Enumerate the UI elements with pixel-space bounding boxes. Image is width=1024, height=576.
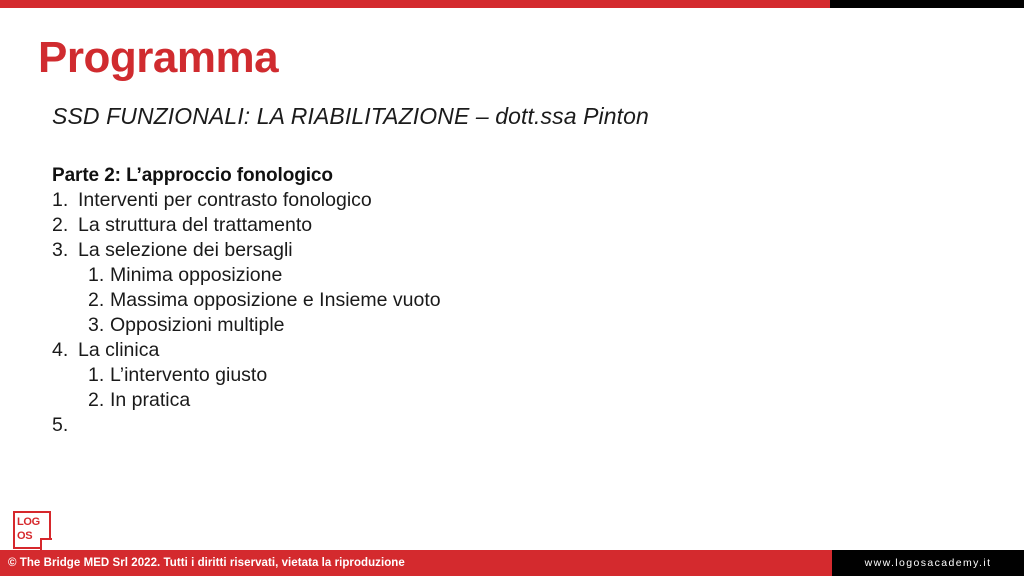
list-item-label: L’intervento giusto (110, 363, 267, 388)
logo-wordmark-line2: OS (17, 529, 44, 543)
list-item-marker: 2. (88, 288, 110, 313)
list-item-marker: 1. (88, 363, 110, 388)
outline-list: Parte 2: L’approccio fonologico 1. Inter… (52, 163, 852, 438)
top-accent-bar-red-segment (0, 0, 830, 8)
list-item: 5. (52, 413, 852, 438)
list-item: 4. La clinica (52, 338, 852, 363)
footer-bar: © The Bridge MED Srl 2022. Tutti i dirit… (0, 550, 1024, 576)
footer-website-band: www.logosacademy.it (832, 550, 1024, 576)
list-item: 3. La selezione dei bersagli (52, 238, 852, 263)
top-accent-bar-black-segment (830, 0, 1024, 8)
list-item-marker: 3. (52, 238, 78, 263)
logos-logo: LOG OS (13, 511, 51, 549)
top-accent-bar (0, 0, 1024, 8)
list-item-marker: 1. (52, 188, 78, 213)
footer-copyright-text: © The Bridge MED Srl 2022. Tutti i dirit… (0, 557, 405, 569)
list-item-marker: 3. (88, 313, 110, 338)
logo-wordmark-line1: LOG (17, 515, 44, 529)
list-item-label: Massima opposizione e Insieme vuoto (110, 288, 441, 313)
list-item-label: In pratica (110, 388, 190, 413)
list-item: 1. Interventi per contrasto fonologico (52, 188, 852, 213)
list-item: 2. La struttura del trattamento (52, 213, 852, 238)
list-item-marker: 4. (52, 338, 78, 363)
list-item-label: Minima opposizione (110, 263, 282, 288)
list-item-label: Opposizioni multiple (110, 313, 285, 338)
list-item: 1. L’intervento giusto (52, 363, 852, 388)
list-item: 1. Minima opposizione (52, 263, 852, 288)
outline-heading: Parte 2: L’approccio fonologico (52, 163, 852, 188)
list-item-marker: 1. (88, 263, 110, 288)
page-title: Programma (38, 36, 278, 80)
list-item-label: Interventi per contrasto fonologico (78, 188, 372, 213)
list-item: 2. Massima opposizione e Insieme vuoto (52, 288, 852, 313)
list-item: 2. In pratica (52, 388, 852, 413)
slide-canvas: Programma SSD FUNZIONALI: LA RIABILITAZI… (0, 8, 1024, 550)
list-item-label: La clinica (78, 338, 159, 363)
list-item-marker: 2. (88, 388, 110, 413)
list-item-label: La selezione dei bersagli (78, 238, 293, 263)
list-item: 3. Opposizioni multiple (52, 313, 852, 338)
list-item-label: La struttura del trattamento (78, 213, 312, 238)
footer-copyright-band: © The Bridge MED Srl 2022. Tutti i dirit… (0, 550, 832, 576)
slide-subtitle: SSD FUNZIONALI: LA RIABILITAZIONE – dott… (52, 103, 649, 130)
footer-website-link[interactable]: www.logosacademy.it (865, 557, 992, 569)
logo-wordmark: LOG OS (17, 515, 44, 543)
list-item-marker: 2. (52, 213, 78, 238)
list-item-marker: 5. (52, 413, 78, 438)
